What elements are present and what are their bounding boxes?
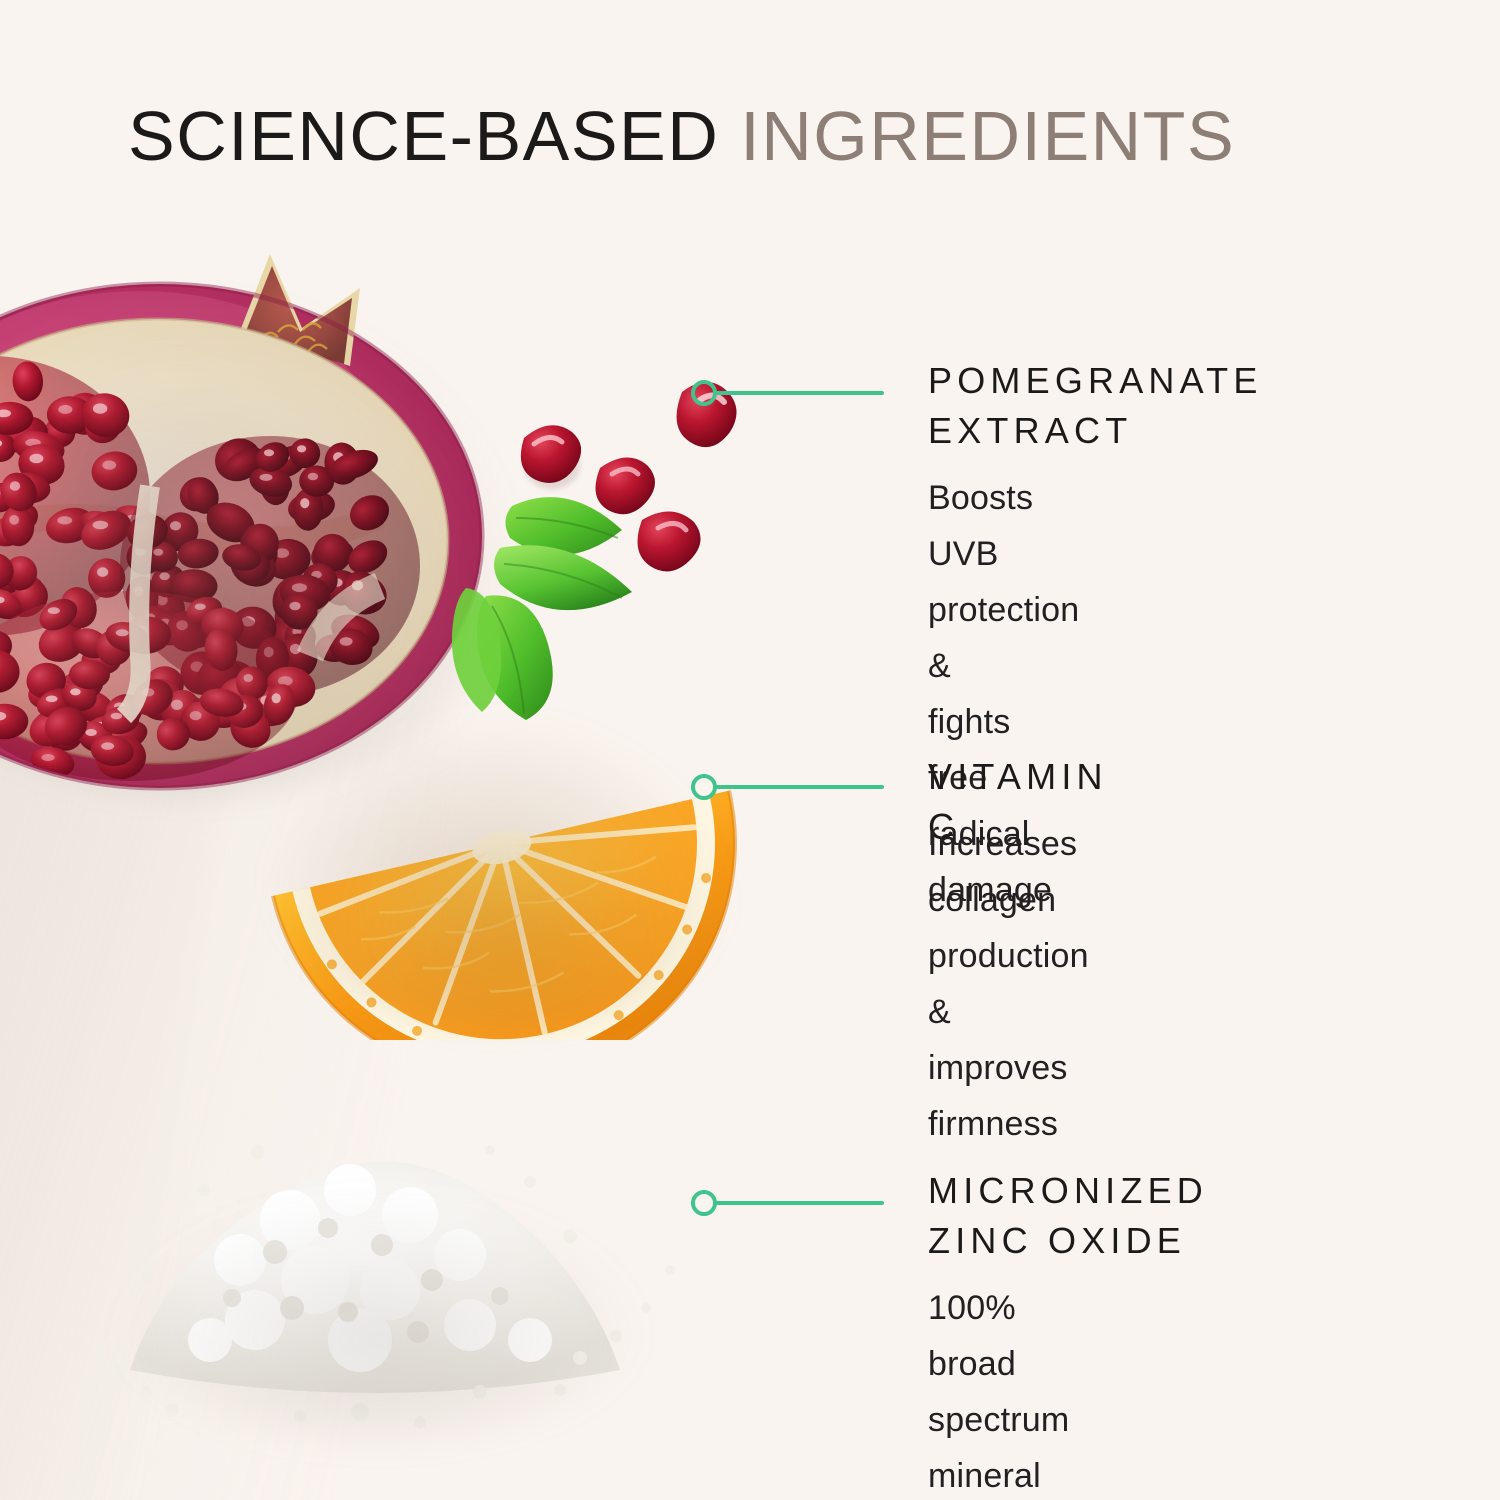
orange-slice-image (248, 648, 748, 1040)
leader-line-pomegranate (690, 348, 900, 440)
pomegranate-seed-marker[interactable] (693, 382, 715, 404)
orange-shadow (268, 708, 738, 1028)
orange-slice-marker[interactable] (693, 776, 715, 798)
callout-heading-zinc-oxide: MICRONIZED ZINC OXIDE (928, 1166, 1208, 1266)
powder-shadow (110, 1190, 650, 1440)
callout-heading-pomegranate: POMEGRANATE EXTRACT (928, 356, 1263, 456)
callout-description-zinc-oxide: 100% broad spectrum mineral protection (928, 1280, 1079, 1500)
zinc-oxide-powder-image (60, 1040, 700, 1460)
zinc-powder-marker[interactable] (693, 1192, 715, 1214)
callout-description-vitamin-c: Increases collagen production & improves… (928, 816, 1089, 1152)
leader-line-zinc-oxide (690, 1158, 900, 1250)
infographic-canvas: SCIENCE-BASED INGREDIENTS (0, 0, 1500, 1500)
leader-line-vitamin-c (690, 742, 900, 834)
